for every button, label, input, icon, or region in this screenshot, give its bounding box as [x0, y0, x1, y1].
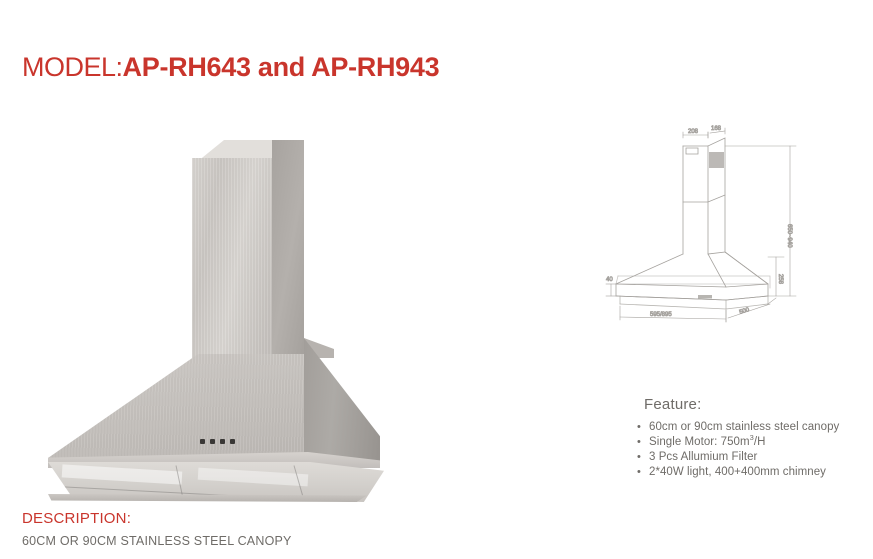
product-photo: [24, 132, 404, 487]
technical-dimension-drawing: 208 168 650~940 258 40 595/895 500: [598, 124, 873, 336]
model-label: MODEL:: [22, 52, 123, 82]
feature-item-motor: Single Motor: 750m3/H: [636, 435, 868, 450]
feature-section: Feature: 60cm or 90cm stainless steel ca…: [636, 396, 868, 480]
feature-list: 60cm or 90cm stainless steel canopy Sing…: [636, 420, 868, 480]
canopy-side-facet: [304, 338, 380, 464]
feature-heading: Feature:: [644, 396, 868, 413]
dimension-label-168: 168: [711, 126, 722, 132]
description-section: DESCRIPTION: 60CM OR 90CM STAINLESS STEE…: [22, 510, 292, 548]
dimension-label-40: 40: [606, 277, 613, 283]
description-heading: DESCRIPTION:: [22, 510, 292, 527]
control-button[interactable]: [230, 439, 235, 444]
description-text: 60CM OR 90CM STAINLESS STEEL CANOPY: [22, 534, 292, 548]
feature-item-text: 2*40W light, 400+400mm chimney: [649, 466, 826, 478]
feature-item-text: 60cm or 90cm stainless steel canopy: [649, 421, 839, 433]
model-value: AP-RH643 and AP-RH943: [123, 52, 440, 82]
feature-item-text-before: Single Motor: 750m: [649, 436, 750, 448]
feature-item-text: 3 Pcs Allumium Filter: [649, 451, 757, 463]
dimension-label-595-895: 595/895: [650, 312, 672, 318]
dimension-label-500: 500: [739, 307, 751, 316]
control-panel: [200, 439, 235, 444]
control-button[interactable]: [220, 439, 225, 444]
page-title: MODEL:AP-RH643 and AP-RH943: [22, 54, 439, 81]
feature-item-text-after: /H: [754, 436, 766, 448]
canopy-front-facet: [48, 354, 304, 458]
control-button[interactable]: [200, 439, 205, 444]
dimension-label-208: 208: [688, 129, 699, 135]
dimension-label-258: 258: [777, 274, 783, 285]
control-button[interactable]: [210, 439, 215, 444]
feature-item-filter: 3 Pcs Allumium Filter: [636, 450, 868, 465]
range-hood-illustration: [24, 132, 404, 487]
feature-item-light-chimney: 2*40W light, 400+400mm chimney: [636, 465, 868, 480]
dimension-label-650-940: 650~940: [786, 224, 792, 248]
